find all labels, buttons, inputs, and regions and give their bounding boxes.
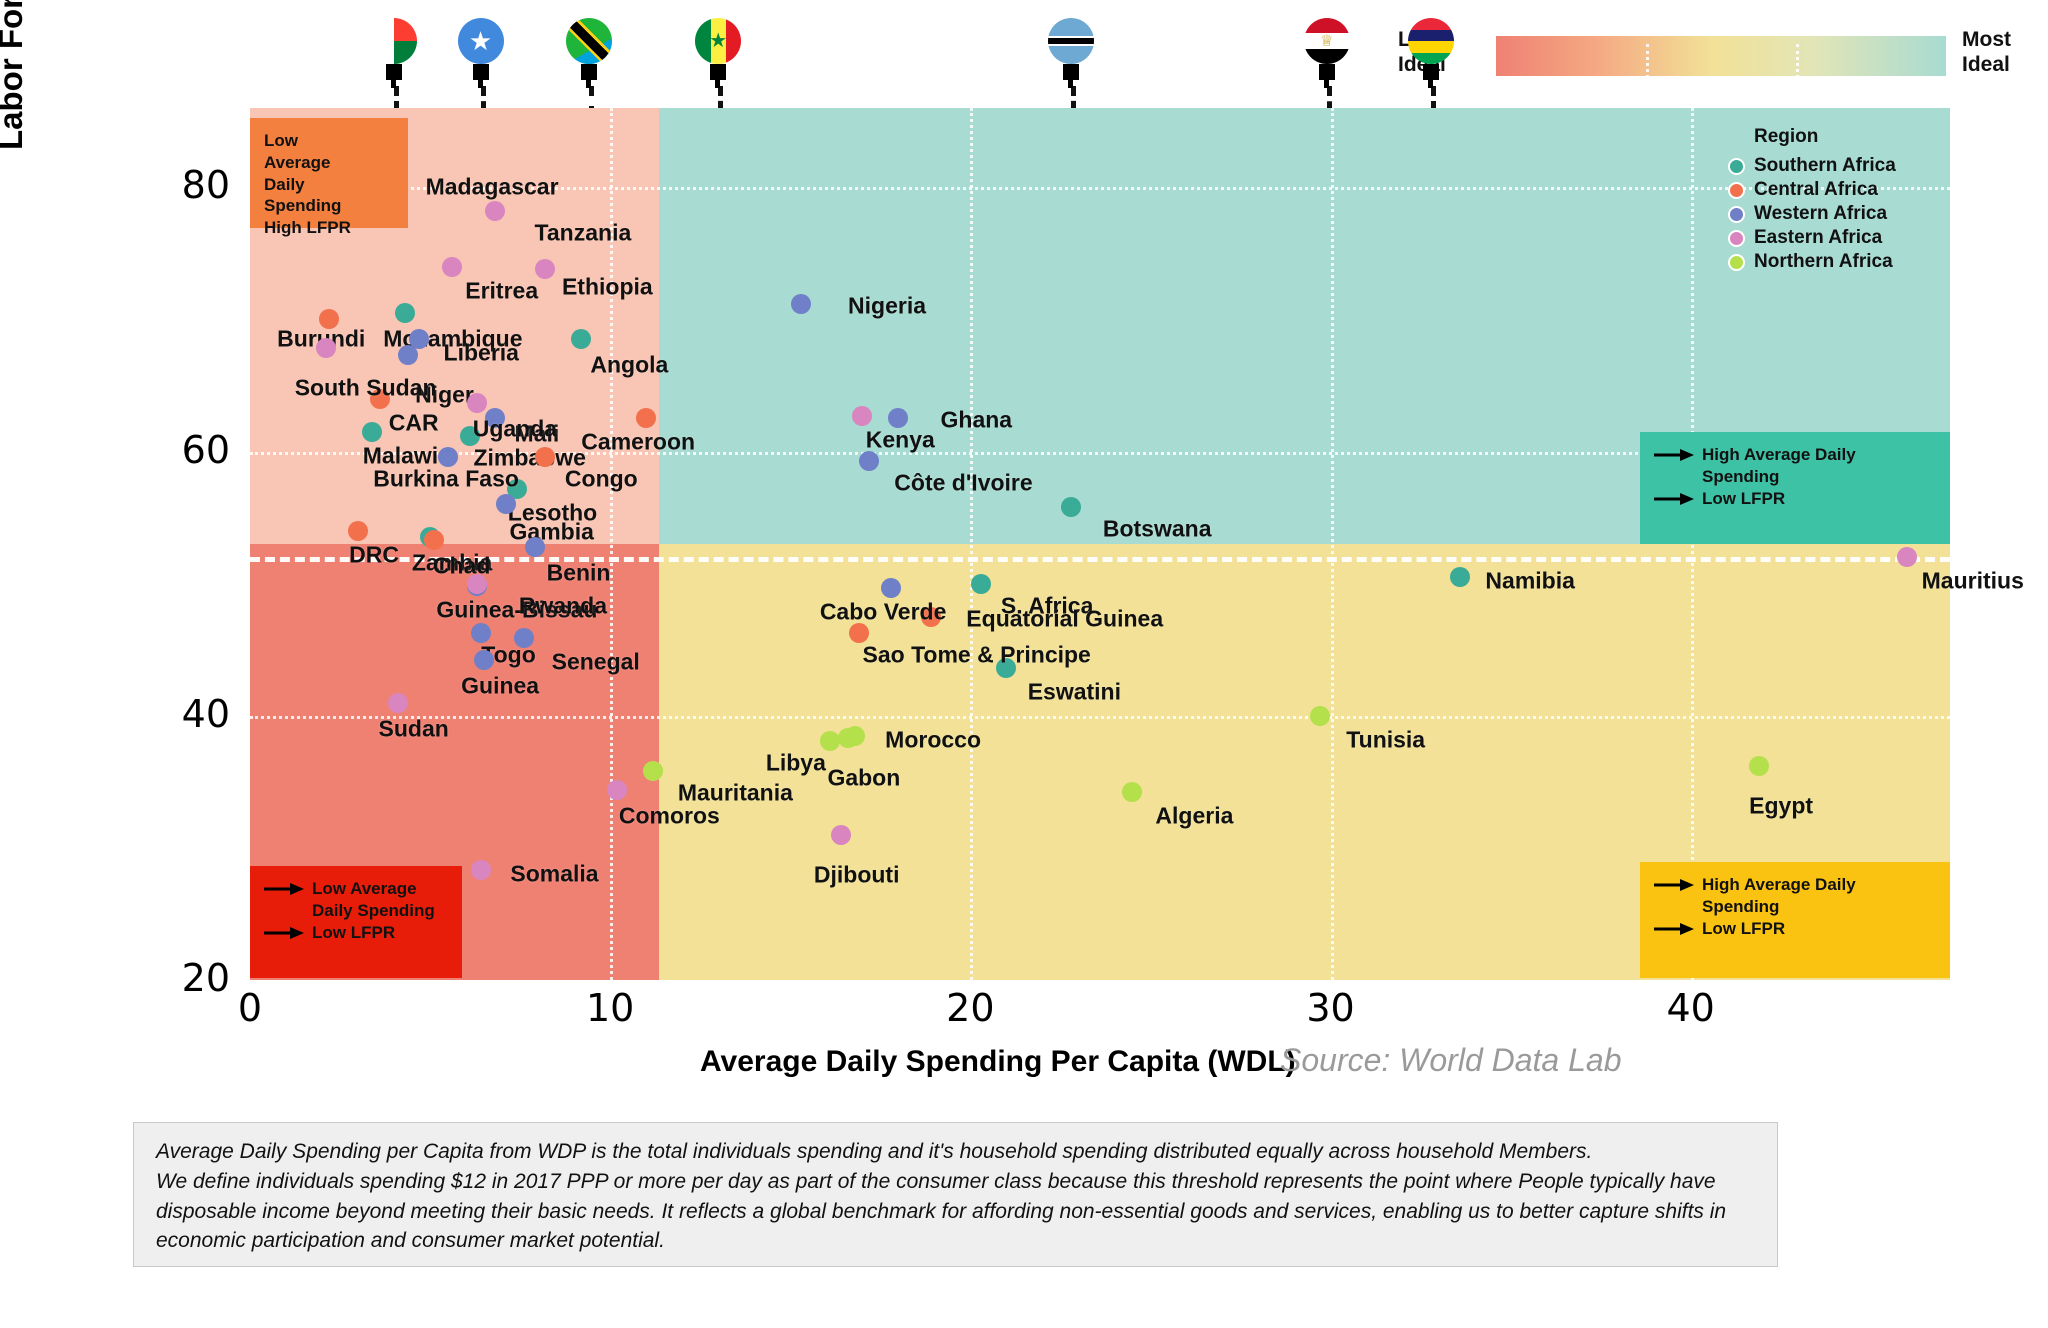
data-point-label: Benin bbox=[547, 559, 611, 586]
flag-madagascar-icon bbox=[371, 18, 417, 64]
data-point[interactable] bbox=[395, 303, 415, 323]
data-point[interactable] bbox=[571, 329, 591, 349]
flag-somalia-icon: ★ bbox=[458, 18, 504, 64]
source-label: Source: World Data Lab bbox=[1280, 1042, 1622, 1079]
data-point-label: Mauritania bbox=[678, 780, 793, 807]
annotation-tl-l1: Low bbox=[264, 130, 394, 152]
region-legend-swatch-icon bbox=[1728, 254, 1745, 271]
scale-most-label: Most Ideal bbox=[1962, 28, 2048, 78]
region-legend-item[interactable]: Northern Africa bbox=[1728, 250, 1888, 274]
region-legend-label: Northern Africa bbox=[1754, 251, 1893, 273]
flag-pin-egypt[interactable]: ♕ bbox=[1304, 18, 1350, 80]
region-legend-items: Southern AfricaCentral AfricaWestern Afr… bbox=[1728, 154, 1888, 274]
region-legend-item[interactable]: Central Africa bbox=[1728, 178, 1888, 202]
caption-paragraph-2: We define individuals spending $12 in 20… bbox=[156, 1167, 1755, 1256]
data-point[interactable] bbox=[971, 574, 991, 594]
data-point-label: Guinea bbox=[461, 673, 539, 700]
data-point-label: Sao Tome & Principe bbox=[862, 641, 1090, 668]
annotation-br-row2: Low LFPR bbox=[1654, 918, 1936, 940]
flag-egypt-icon: ♕ bbox=[1304, 18, 1350, 64]
data-point-label: Egypt bbox=[1749, 792, 1813, 819]
y-axis-tick-label: 40 bbox=[140, 692, 230, 736]
data-point[interactable] bbox=[820, 731, 840, 751]
flag-pin-stem bbox=[1423, 64, 1439, 80]
region-legend-label: Eastern Africa bbox=[1754, 227, 1882, 249]
data-point[interactable] bbox=[467, 574, 487, 594]
x-axis-tick-label: 30 bbox=[1291, 986, 1371, 1030]
data-point[interactable] bbox=[438, 447, 458, 467]
flag-pin-stem bbox=[473, 64, 489, 80]
data-point-label: Sudan bbox=[379, 715, 449, 742]
flag-pin-somalia[interactable]: ★ bbox=[458, 18, 504, 80]
arrow-right-icon bbox=[264, 926, 304, 940]
gridline-vertical bbox=[1691, 108, 1694, 980]
region-legend-swatch-icon bbox=[1728, 158, 1745, 175]
flag-pin-tanzania[interactable] bbox=[566, 18, 612, 80]
data-point-label: Equatorial Guinea bbox=[966, 605, 1163, 632]
data-point-label: CAR bbox=[389, 409, 439, 436]
y-axis-tick-label: 80 bbox=[140, 163, 230, 207]
data-point-label: Namibia bbox=[1485, 568, 1574, 595]
flag-pin-stem bbox=[581, 64, 597, 80]
arrow-right-icon bbox=[1654, 448, 1694, 462]
data-point-label: Gambia bbox=[510, 519, 594, 546]
data-point-label: Djibouti bbox=[814, 861, 900, 888]
data-point[interactable] bbox=[1122, 782, 1142, 802]
scale-tick bbox=[1796, 44, 1799, 84]
data-point-label: Eritrea bbox=[465, 277, 538, 304]
data-point-label: Cameroon bbox=[581, 429, 695, 456]
data-point[interactable] bbox=[514, 628, 534, 648]
region-legend-item[interactable]: Eastern Africa bbox=[1728, 226, 1888, 250]
region-legend-item[interactable]: Southern Africa bbox=[1728, 154, 1888, 178]
data-point[interactable] bbox=[362, 422, 382, 442]
x-axis-tick-label: 20 bbox=[930, 986, 1010, 1030]
region-legend-label: Western Africa bbox=[1754, 203, 1887, 225]
gridline-horizontal bbox=[250, 716, 1950, 719]
data-point-label: Nigeria bbox=[848, 292, 926, 319]
x-axis-tick-label: 0 bbox=[210, 986, 290, 1030]
data-point-label: South Sudan bbox=[295, 375, 437, 402]
gridline-vertical bbox=[1331, 108, 1334, 980]
flag-pin-stem bbox=[1063, 64, 1079, 80]
data-point-label: Côte d'Ivoire bbox=[894, 469, 1032, 496]
footnote-caption: Average Daily Spending per Capita from W… bbox=[133, 1122, 1778, 1267]
flag-senegal-icon: ★ bbox=[695, 18, 741, 64]
x-axis-tick-label: 10 bbox=[570, 986, 650, 1030]
data-point[interactable] bbox=[525, 537, 545, 557]
region-legend-title: Region bbox=[1754, 126, 1888, 148]
caption-paragraph-1: Average Daily Spending per Capita from W… bbox=[156, 1137, 1755, 1167]
data-point[interactable] bbox=[474, 650, 494, 670]
data-point-label: Kenya bbox=[866, 426, 935, 453]
data-point[interactable] bbox=[398, 345, 418, 365]
data-point[interactable] bbox=[1749, 756, 1769, 776]
data-point-label: Rwanda bbox=[519, 592, 607, 619]
data-point[interactable] bbox=[424, 530, 444, 550]
scale-gradient-bar bbox=[1496, 36, 1946, 76]
data-point-label: Congo bbox=[565, 465, 638, 492]
annotation-tl-l5: High LFPR bbox=[264, 217, 394, 239]
annotation-tl-l3: Daily bbox=[264, 174, 394, 196]
data-point-label: Botswana bbox=[1103, 516, 1212, 543]
data-point[interactable] bbox=[485, 201, 505, 221]
annotation-bl-row2: Low LFPR bbox=[264, 922, 448, 944]
data-point-label: Tunisia bbox=[1346, 726, 1425, 753]
region-legend-item[interactable]: Western Africa bbox=[1728, 202, 1888, 226]
annotation-tr-row2: Low LFPR bbox=[1654, 488, 1936, 510]
data-point[interactable] bbox=[471, 860, 491, 880]
annotation-br-l1: High Average Daily Spending bbox=[1702, 874, 1936, 918]
data-point[interactable] bbox=[467, 393, 487, 413]
data-point[interactable] bbox=[607, 780, 627, 800]
annotation-br-row1: High Average Daily Spending bbox=[1654, 874, 1936, 918]
annotation-tl-l2: Average bbox=[264, 152, 394, 174]
flag-tanzania-icon bbox=[566, 18, 612, 64]
data-point[interactable] bbox=[859, 451, 879, 471]
region-legend-swatch-icon bbox=[1728, 206, 1745, 223]
data-point[interactable] bbox=[1310, 706, 1330, 726]
data-point-label: Ethiopia bbox=[562, 274, 653, 301]
annotation-low-spend-high-lfpr: Low Average Daily Spending High LFPR bbox=[250, 118, 408, 228]
annotation-tr-row1: High Average Daily Spending bbox=[1654, 444, 1936, 488]
data-point-label: Gabon bbox=[827, 765, 900, 792]
y-axis-tick-label: 60 bbox=[140, 428, 230, 472]
y-axis-title: Labor Force Participation Rate (%) bbox=[0, 0, 30, 150]
data-point-label: Somalia bbox=[510, 861, 598, 888]
annotation-br-l2: Low LFPR bbox=[1702, 918, 1785, 940]
data-point-label: Madagascar bbox=[426, 173, 559, 200]
data-point[interactable] bbox=[535, 259, 555, 279]
data-point[interactable] bbox=[1061, 497, 1081, 517]
data-point-label: DRC bbox=[349, 541, 399, 568]
region-legend-label: Central Africa bbox=[1754, 179, 1878, 201]
annotation-high-spend-high-lfpr: High Average Daily Spending Low LFPR bbox=[1640, 432, 1950, 544]
data-point-label: Tanzania bbox=[535, 220, 632, 247]
flag-pin-mauritius[interactable] bbox=[1408, 18, 1454, 80]
scatter-plot-area: MozambiqueMalawiZimbabweAngolaLesothoZam… bbox=[250, 108, 1950, 980]
data-point-label: Algeria bbox=[1155, 803, 1233, 830]
data-point-label: Libya bbox=[766, 749, 826, 776]
data-point[interactable] bbox=[849, 623, 869, 643]
flag-botswana-icon bbox=[1048, 18, 1094, 64]
data-point[interactable] bbox=[852, 406, 872, 426]
data-point[interactable] bbox=[348, 521, 368, 541]
data-point-label: Ghana bbox=[941, 407, 1013, 434]
annotation-bl-row1: Low Average Daily Spending bbox=[264, 878, 448, 922]
data-point-label: Mauritius bbox=[1922, 568, 2024, 595]
data-point[interactable] bbox=[791, 294, 811, 314]
data-point[interactable] bbox=[388, 693, 408, 713]
data-point[interactable] bbox=[838, 728, 858, 748]
arrow-right-icon bbox=[264, 882, 304, 896]
annotation-high-spend-low-lfpr: High Average Daily Spending Low LFPR bbox=[1640, 862, 1950, 978]
data-point-label: Morocco bbox=[885, 726, 981, 753]
flag-pin-stem bbox=[1319, 64, 1335, 80]
annotation-tr-l2: Low LFPR bbox=[1702, 488, 1785, 510]
data-point-label: Cabo Verde bbox=[820, 598, 947, 625]
arrow-right-icon bbox=[1654, 922, 1694, 936]
region-legend-swatch-icon bbox=[1728, 182, 1745, 199]
gridline-vertical bbox=[970, 108, 973, 980]
annotation-bl-l1: Low Average Daily Spending bbox=[312, 878, 448, 922]
data-point[interactable] bbox=[636, 408, 656, 428]
data-point-label: Senegal bbox=[552, 648, 640, 675]
data-point-label: Liberia bbox=[444, 340, 519, 367]
x-axis-title: Average Daily Spending Per Capita (WDL) bbox=[700, 1045, 1296, 1079]
arrow-right-icon bbox=[1654, 492, 1694, 506]
annotation-low-spend-low-lfpr: Low Average Daily Spending Low LFPR bbox=[250, 866, 462, 978]
x-axis-tick-label: 40 bbox=[1651, 986, 1731, 1030]
data-point[interactable] bbox=[316, 338, 336, 358]
ideal-color-scale: Least Ideal Most Ideal bbox=[1398, 28, 2048, 82]
arrow-right-icon bbox=[1654, 878, 1694, 892]
data-point[interactable] bbox=[1897, 547, 1917, 567]
data-point[interactable] bbox=[831, 825, 851, 845]
flag-pin-madagascar[interactable] bbox=[371, 18, 417, 80]
data-point-label: Angola bbox=[590, 352, 668, 379]
data-point[interactable] bbox=[1450, 567, 1470, 587]
data-point-label: Burkina Faso bbox=[373, 465, 519, 492]
annotation-tl-l4: Spending bbox=[264, 195, 394, 217]
region-legend-swatch-icon bbox=[1728, 230, 1745, 247]
flag-mauritius-icon bbox=[1408, 18, 1454, 64]
region-legend-label: Southern Africa bbox=[1754, 155, 1896, 177]
annotation-tr-l1: High Average Daily Spending bbox=[1702, 444, 1936, 488]
flag-pin-stem bbox=[710, 64, 726, 80]
flag-pin-botswana[interactable] bbox=[1048, 18, 1094, 80]
quadrant-split-horizontal bbox=[250, 557, 1950, 562]
data-point[interactable] bbox=[471, 623, 491, 643]
data-point[interactable] bbox=[442, 257, 462, 277]
scale-tick bbox=[1646, 44, 1649, 84]
data-point[interactable] bbox=[881, 578, 901, 598]
data-point[interactable] bbox=[496, 494, 516, 514]
flag-pin-senegal[interactable]: ★ bbox=[695, 18, 741, 80]
data-point-label: Eswatini bbox=[1028, 679, 1121, 706]
region-legend: Region Southern AfricaCentral AfricaWest… bbox=[1728, 122, 1888, 278]
annotation-bl-l2: Low LFPR bbox=[312, 922, 395, 944]
data-point[interactable] bbox=[643, 761, 663, 781]
data-point-label: Uganda bbox=[473, 415, 557, 442]
data-point[interactable] bbox=[535, 447, 555, 467]
flag-pin-stem bbox=[386, 64, 402, 80]
